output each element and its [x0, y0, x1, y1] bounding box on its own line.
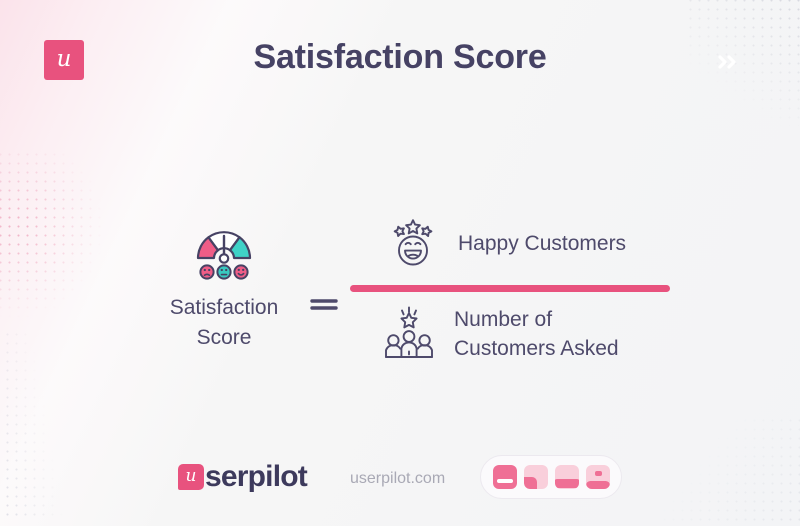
double-chevron-right-icon[interactable] — [713, 50, 745, 74]
tile-modal-icon[interactable] — [524, 465, 548, 489]
satisfaction-score-formula: Satisfaction Score — [150, 196, 670, 381]
satisfaction-gauge-icon — [192, 224, 256, 287]
fraction-denominator: Number of Customers Asked — [350, 303, 670, 365]
formula-fraction: Happy Customers — [350, 212, 670, 365]
decorative-dot-pattern-left — [0, 150, 106, 320]
tile-checklist-icon[interactable] — [493, 465, 517, 489]
brand-logo-letter: u — [186, 468, 197, 486]
brand-name: serpilot — [205, 460, 307, 494]
footer: u serpilot userpilot.com — [0, 446, 800, 502]
tile-banner-icon[interactable] — [555, 465, 579, 489]
slide-canvas: u Satisfaction Score — [0, 0, 800, 526]
formula-result: Satisfaction Score — [150, 224, 298, 353]
brand-logo-mark: u — [178, 464, 204, 490]
ui-pattern-widget[interactable] — [480, 455, 622, 499]
happy-face-with-stars-icon — [384, 217, 442, 269]
fraction-numerator-label: Happy Customers — [458, 229, 626, 258]
fraction-denominator-label: Number of Customers Asked — [454, 305, 619, 363]
fraction-numerator: Happy Customers — [350, 212, 670, 274]
tile-tooltip-icon[interactable] — [586, 465, 610, 489]
userpilot-wordmark[interactable]: u serpilot — [178, 460, 307, 494]
formula-result-label: Satisfaction Score — [170, 293, 279, 353]
website-url[interactable]: userpilot.com — [350, 470, 445, 488]
fraction-bar — [350, 285, 670, 292]
group-of-people-with-star-icon — [380, 306, 438, 362]
page-title: Satisfaction Score — [0, 38, 800, 77]
equals-sign — [298, 295, 350, 313]
